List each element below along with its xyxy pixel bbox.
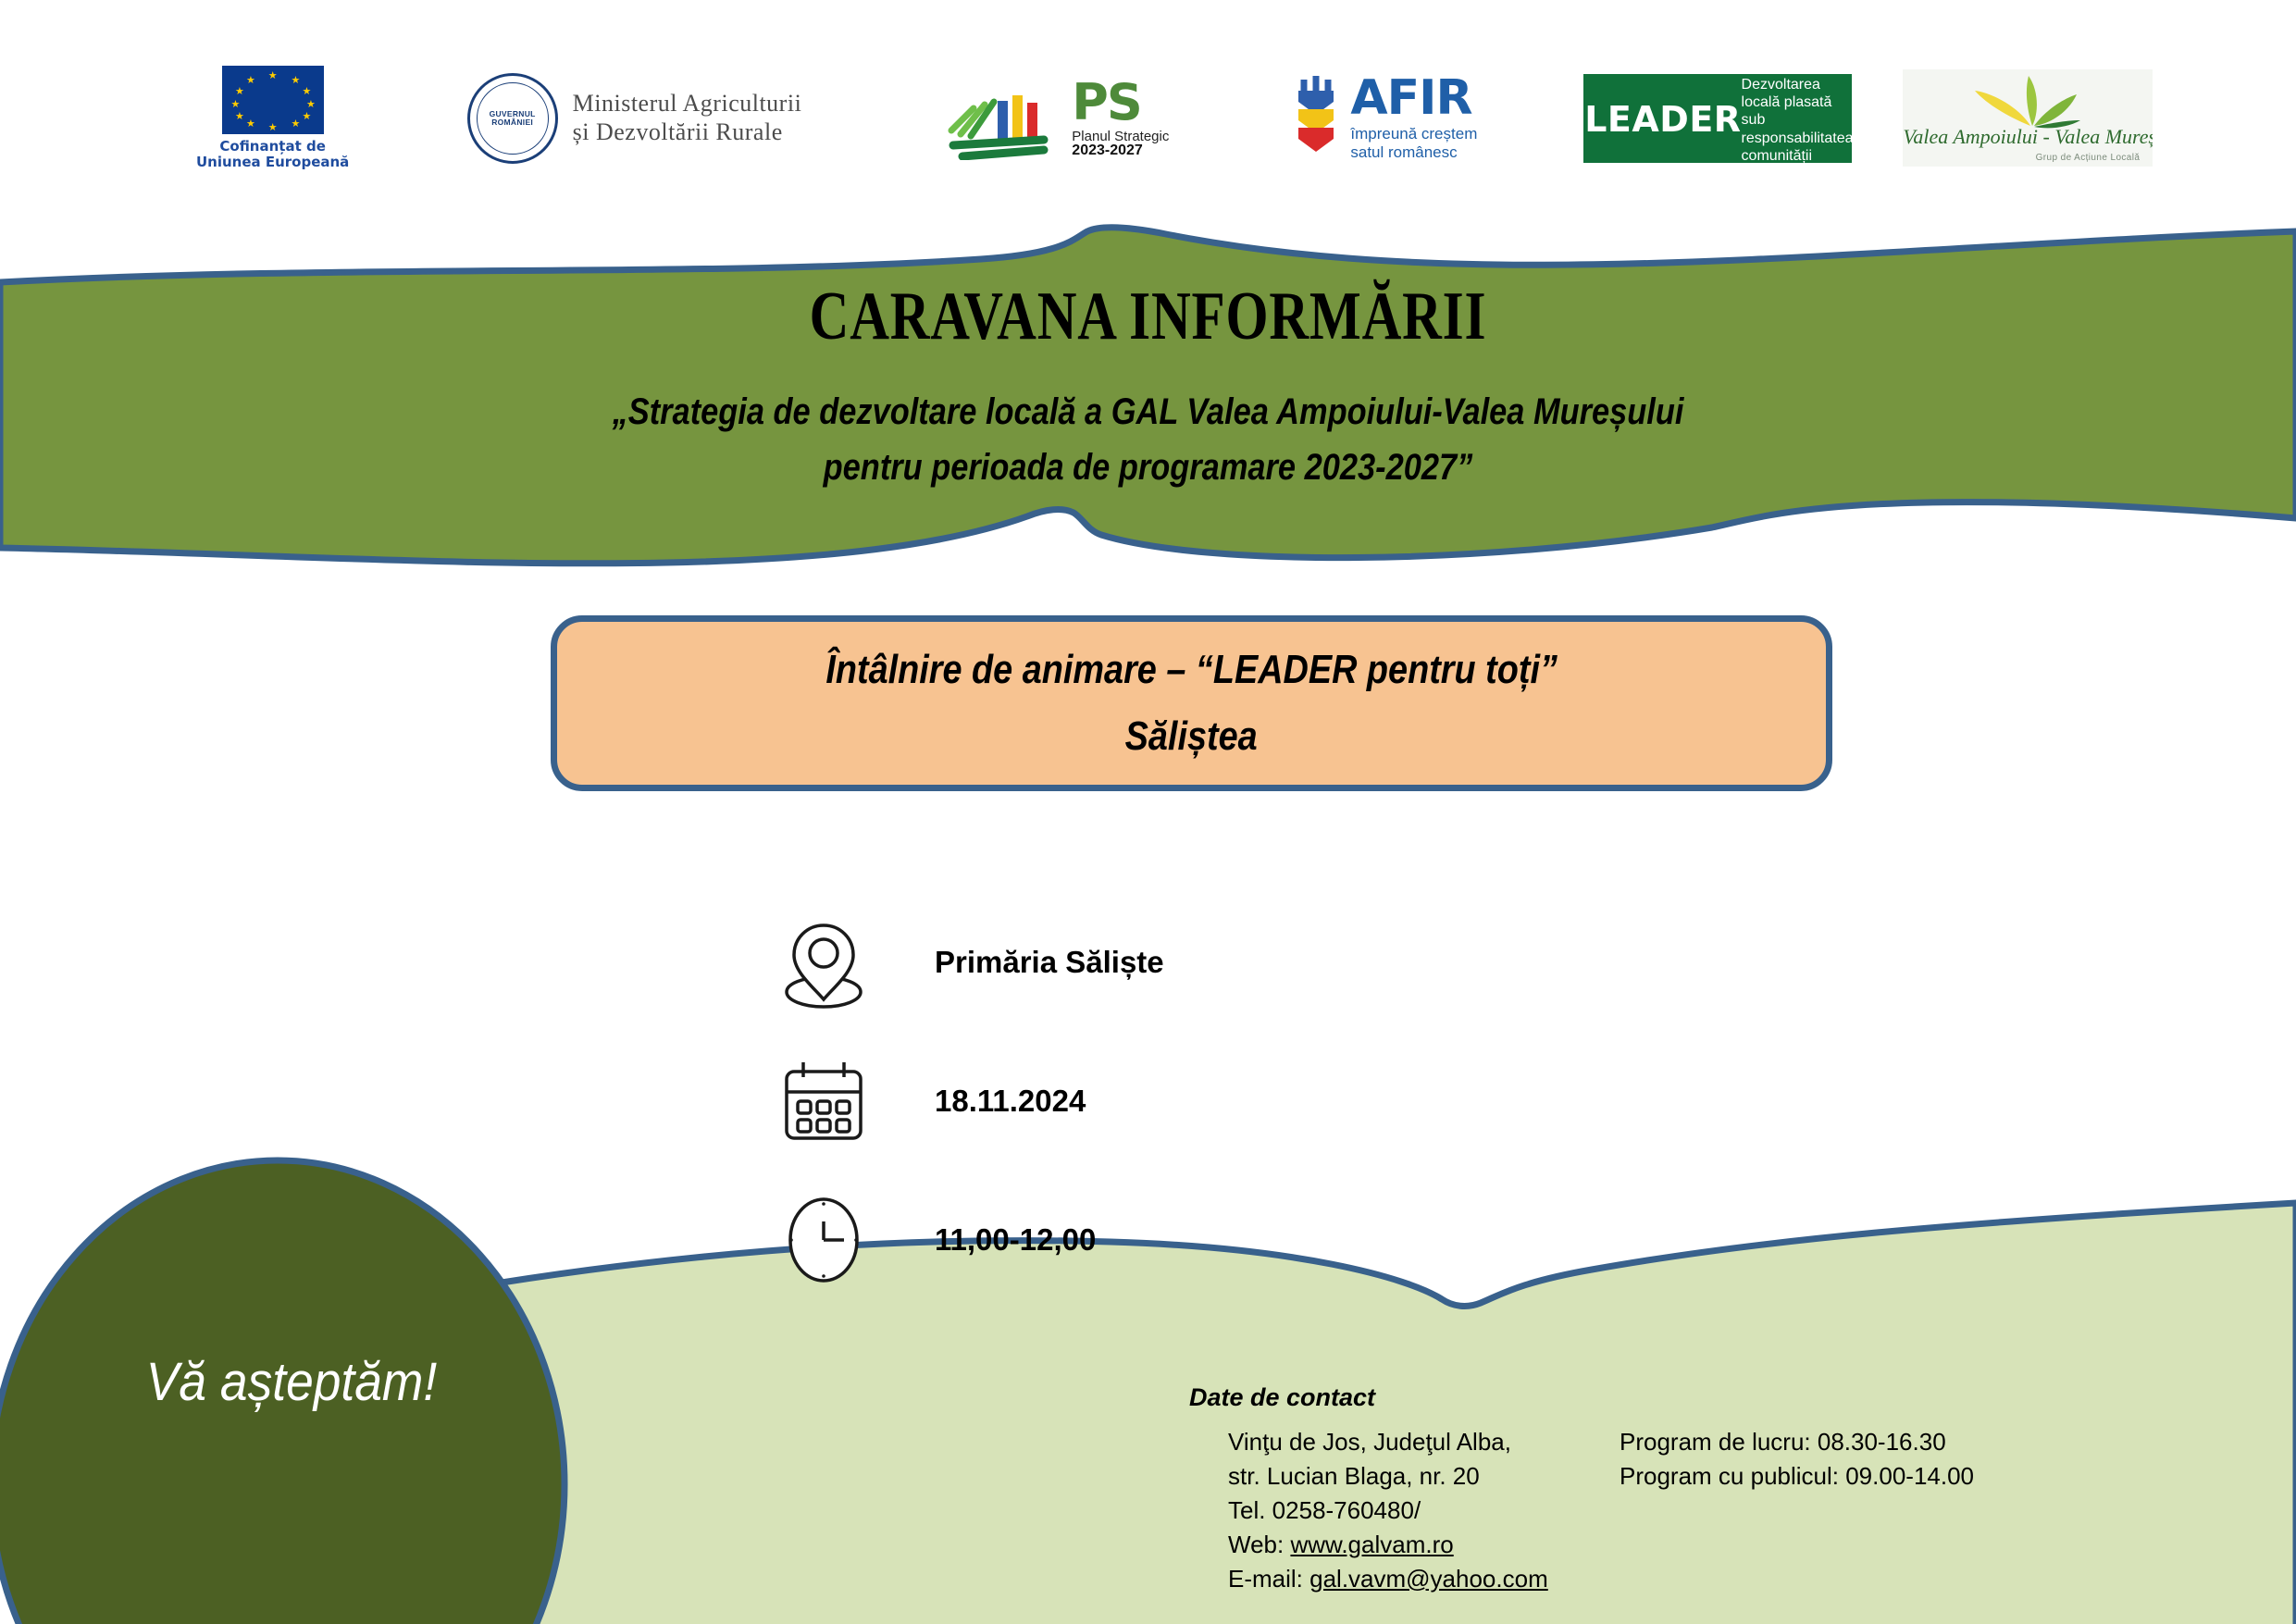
ps-mark: PS — [1072, 78, 1169, 128]
banner-subtitle-line1: „Strategia de dezvoltare locală a GAL Va… — [161, 384, 2136, 440]
eu-caption-line1: Cofinanțat de — [196, 139, 349, 155]
contact-email-link[interactable]: gal.vavm@yahoo.com — [1309, 1565, 1548, 1593]
ministry-line1: Ministerul Agriculturii — [573, 90, 802, 118]
detail-time: 11,00-12,00 — [768, 1171, 1164, 1309]
contact-address-line2: str. Lucian Blaga, nr. 20 — [1228, 1459, 1548, 1494]
government-seal-icon: GUVERNUL ROMÂNIEI — [467, 73, 558, 164]
event-details: Primăria Săliște 18.11.2024 — [768, 893, 1164, 1309]
contact-web-link[interactable]: www.galvam.ro — [1290, 1531, 1453, 1558]
event-title-box: Întâlnire de animare – “LEADER pentru to… — [551, 615, 1832, 791]
event-title-line1: Întâlnire de animare – “LEADER pentru to… — [825, 647, 1558, 693]
gal-leaves-icon — [1903, 72, 2153, 130]
calendar-icon — [768, 1053, 879, 1149]
eu-flag-icon: ★ ★ ★ ★ ★ ★ ★ ★ ★ ★ ★ ★ — [222, 66, 324, 134]
ps-sub1: Planul Strategic — [1072, 130, 1169, 143]
logo-ministry: GUVERNUL ROMÂNIEI Ministerul Agriculturi… — [467, 73, 802, 164]
ps-sheaf-icon — [940, 77, 1061, 160]
detail-location-value: Primăria Săliște — [935, 945, 1164, 980]
logo-planul-strategic: PS Planul Strategic 2023-2027 — [940, 77, 1169, 160]
logo-afir: AFIR împreună creștem satul românesc — [1289, 74, 1477, 163]
eu-caption-line2: Uniunea Europeană — [196, 155, 349, 170]
detail-location: Primăria Săliște — [768, 893, 1164, 1032]
contact-block: Date de contact Vinţu de Jos, Judeţul Al… — [1189, 1383, 1548, 1596]
leader-title: LEADER — [1584, 102, 1741, 137]
detail-date: 18.11.2024 — [768, 1032, 1164, 1171]
ps-sub2: 2023-2027 — [1072, 143, 1169, 158]
logo-eu-emblem: ★ ★ ★ ★ ★ ★ ★ ★ ★ ★ ★ ★ Cofinanțat de Un… — [180, 66, 366, 171]
detail-time-value: 11,00-12,00 — [935, 1222, 1096, 1258]
banner-subtitle: „Strategia de dezvoltare locală a GAL Va… — [161, 384, 2136, 495]
banner-text: CARAVANA INFORMĂRII „Strategia de dezvol… — [0, 278, 2296, 495]
leader-subtitle: Dezvoltarea locală plasată sub responsab… — [1742, 76, 1854, 165]
logo-leader: LEADER Dezvoltarea locală plasată sub re… — [1583, 74, 1852, 163]
contact-lines: Vinţu de Jos, Judeţul Alba, str. Lucian … — [1228, 1425, 1548, 1596]
contact-web-row: Web: www.galvam.ro — [1228, 1528, 1548, 1562]
contact-email-row: E-mail: gal.vavm@yahoo.com — [1228, 1562, 1548, 1596]
gal-title: Valea Ampoiului - Valea Mureșului — [1903, 125, 2153, 149]
afir-tagline: împreună creștem satul românesc — [1350, 125, 1477, 161]
afir-sub2: satul românesc — [1350, 143, 1477, 162]
page-title: CARAVANA INFORMĂRII — [230, 278, 2066, 356]
leader-sub2: responsabilitatea comunității — [1742, 130, 1854, 165]
contact-email-label: E-mail: — [1228, 1565, 1309, 1593]
schedule-public-hours: Program cu publicul: 09.00-14.00 — [1620, 1459, 1974, 1494]
contact-web-label: Web: — [1228, 1531, 1290, 1558]
schedule-working-hours: Program de lucru: 08.30-16.30 — [1620, 1425, 1974, 1459]
location-pin-icon — [768, 914, 879, 1010]
contact-title: Date de contact — [1189, 1383, 1548, 1412]
detail-date-value: 18.11.2024 — [935, 1084, 1086, 1119]
ministry-name: Ministerul Agriculturii și Dezvoltării R… — [573, 90, 802, 146]
afir-sub1: împreună creștem — [1350, 125, 1477, 143]
afir-mark: AFIR — [1350, 74, 1477, 122]
banner-subtitle-line2: pentru perioada de programare 2023-2027” — [161, 440, 2136, 495]
ps-text: PS Planul Strategic 2023-2027 — [1072, 78, 1169, 158]
government-seal-text: GUVERNUL ROMÂNIEI — [470, 110, 555, 127]
call-to-action-text: Vă așteptăm! — [113, 1351, 470, 1413]
contact-address-line1: Vinţu de Jos, Judeţul Alba, — [1228, 1425, 1548, 1459]
contact-phone: Tel. 0258-760480/ — [1228, 1494, 1548, 1528]
event-title-line2: Săliștea — [1125, 713, 1258, 760]
afir-wheat-icon — [1289, 74, 1343, 163]
logo-bar: ★ ★ ★ ★ ★ ★ ★ ★ ★ ★ ★ ★ Cofinanțat de Un… — [0, 51, 2296, 185]
schedule-block: Program de lucru: 08.30-16.30 Program cu… — [1620, 1425, 1974, 1494]
clock-icon — [768, 1192, 879, 1288]
eu-caption: Cofinanțat de Uniunea Europeană — [196, 139, 349, 171]
gal-subtitle: Grup de Acțiune Locală — [2036, 153, 2141, 163]
logo-gal: Valea Ampoiului - Valea Mureșului Grup d… — [1903, 69, 2153, 167]
ministry-line2: și Dezvoltării Rurale — [573, 118, 802, 147]
leader-sub1: Dezvoltarea locală plasată sub — [1742, 76, 1854, 130]
afir-text: AFIR împreună creștem satul românesc — [1350, 74, 1477, 161]
